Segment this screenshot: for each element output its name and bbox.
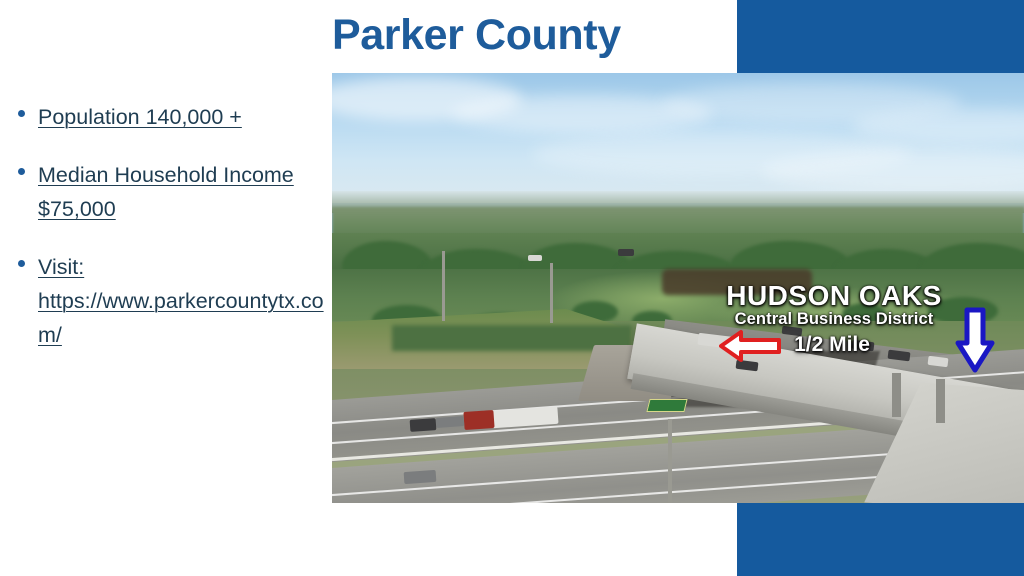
accent-block-bottom-right bbox=[737, 503, 1024, 576]
list-item[interactable]: Visit: https://www.parkercountytx.com/ bbox=[8, 250, 330, 352]
arrow-down-icon bbox=[954, 307, 996, 373]
light-pole bbox=[668, 419, 672, 503]
bullet-list: Population 140,000 + Median Household In… bbox=[8, 100, 330, 376]
bridge-pier bbox=[936, 379, 945, 423]
list-item: Median Household Income $75,000 bbox=[8, 158, 330, 226]
vehicle bbox=[436, 416, 465, 428]
accent-block-top-right bbox=[737, 0, 1024, 73]
vehicle bbox=[618, 249, 634, 256]
cloud bbox=[762, 149, 1024, 193]
page-title: Parker County bbox=[332, 6, 732, 68]
list-item: Population 140,000 + bbox=[8, 100, 330, 134]
bullet-dot-icon bbox=[18, 260, 25, 267]
bullet-text-median-income: Median Household Income $75,000 bbox=[38, 158, 330, 226]
utility-pole bbox=[442, 251, 445, 321]
bullet-text-population: Population 140,000 + bbox=[38, 100, 242, 134]
highway-sign bbox=[646, 399, 687, 412]
bullet-dot-icon bbox=[18, 110, 25, 117]
bridge-pier bbox=[892, 373, 901, 417]
overlay-label-hudson-oaks-subtitle: Central Business District bbox=[717, 310, 951, 329]
arrow-left-icon bbox=[719, 329, 781, 363]
overlay-label-hudson-oaks: HUDSON OAKS bbox=[717, 280, 951, 312]
overlay-label-hudson-oaks-distance: 1/2 Mile bbox=[772, 333, 892, 357]
slide-canvas: Parker County Population 140,000 + Media… bbox=[0, 0, 1024, 576]
vehicle bbox=[410, 418, 437, 432]
photo-sky bbox=[332, 73, 1024, 203]
vehicle bbox=[404, 470, 437, 484]
vehicle bbox=[528, 255, 542, 261]
bullet-text-visit-link[interactable]: Visit: https://www.parkercountytx.com/ bbox=[38, 250, 330, 352]
semi-truck-cab bbox=[463, 410, 494, 430]
utility-pole bbox=[550, 263, 553, 323]
aerial-photo: HUDSON OAKS Central Business District 1/… bbox=[332, 73, 1024, 503]
bullet-dot-icon bbox=[18, 168, 25, 175]
